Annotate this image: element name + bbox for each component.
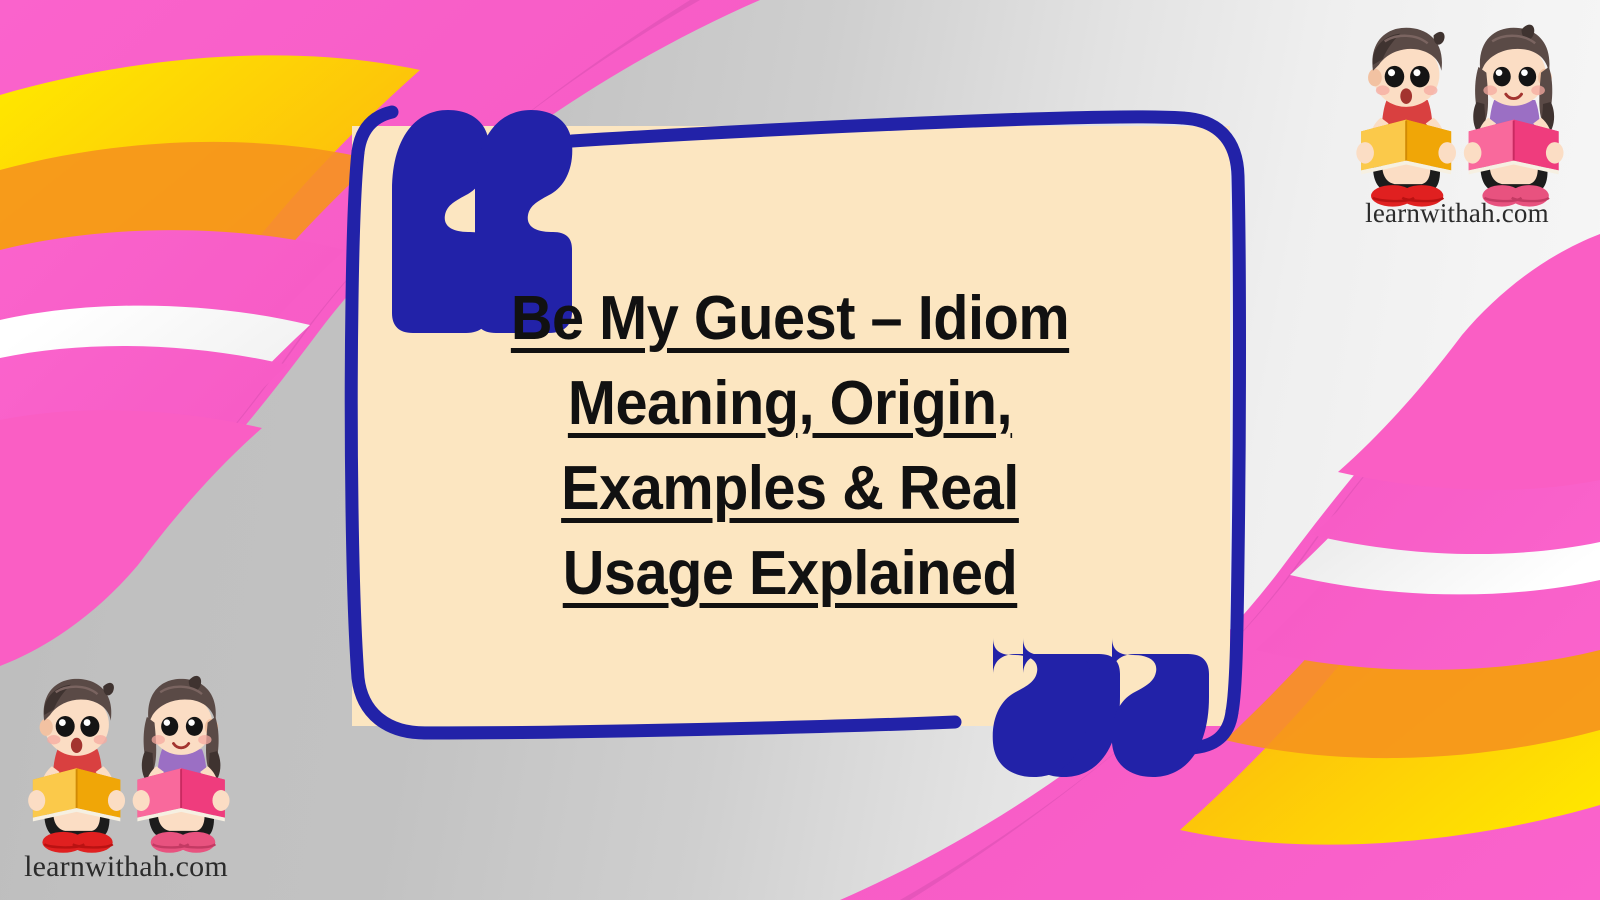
frame-left-edge bbox=[351, 152, 425, 733]
boy-figure bbox=[28, 679, 125, 853]
title-line-2: Meaning, Origin, bbox=[492, 361, 1087, 446]
title-line-3: Examples & Real bbox=[492, 446, 1087, 531]
girl-figure bbox=[1464, 25, 1564, 207]
girl-figure bbox=[133, 676, 230, 853]
frame-right-edge bbox=[1183, 118, 1240, 712]
close-quote-icon bbox=[993, 638, 1209, 777]
brand-name-top-right: learnwithah.com bbox=[1338, 198, 1576, 229]
title-graphic-canvas: Be My Guest – Idiom Meaning, Origin, Exa… bbox=[0, 0, 1600, 900]
title-line-1: Be My Guest – Idiom bbox=[492, 276, 1087, 361]
page-title: Be My Guest – Idiom Meaning, Origin, Exa… bbox=[470, 276, 1110, 616]
brand-logo-bottom-left: learnwithah.com bbox=[12, 658, 240, 886]
brand-name-bottom-left: learnwithah.com bbox=[12, 850, 240, 884]
boy-figure bbox=[1356, 28, 1456, 207]
frame-top-edge bbox=[572, 117, 1183, 141]
title-line-4: Usage Explained bbox=[492, 531, 1087, 616]
frame-top-left-corner bbox=[358, 112, 392, 152]
frame-bottom-edge bbox=[425, 722, 955, 733]
frame-bottom-right-corner bbox=[1190, 712, 1232, 748]
brand-logo-top-right: learnwithah.com bbox=[1338, 16, 1576, 231]
